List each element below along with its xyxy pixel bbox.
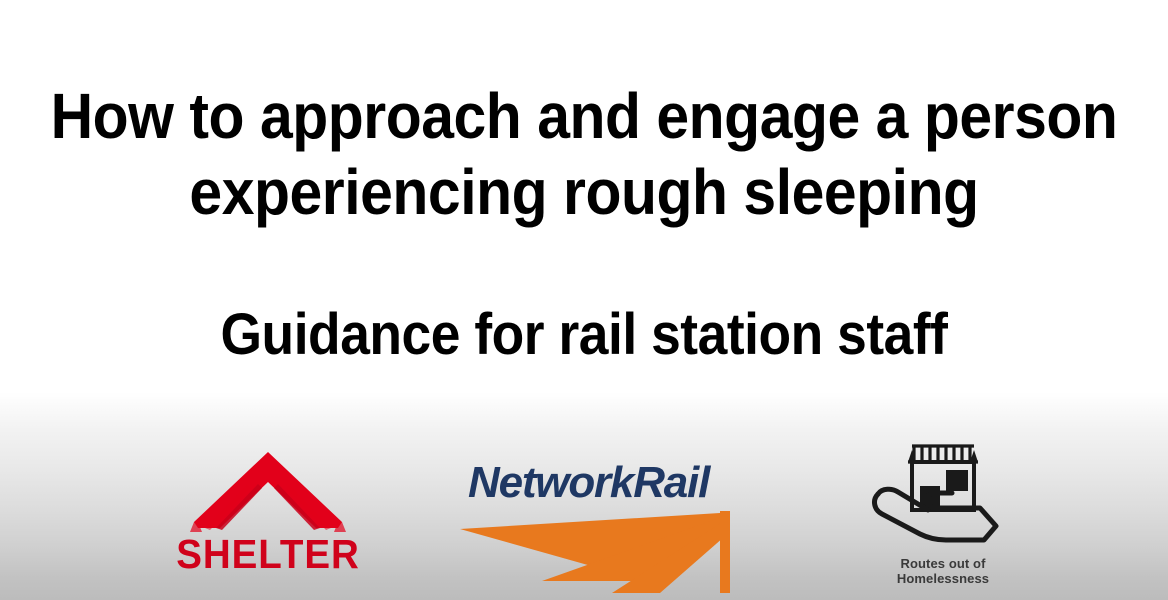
network-rail-wordmark: NetworkRail bbox=[452, 460, 742, 506]
title-slide: How to approach and engage a person expe… bbox=[0, 0, 1168, 600]
subtitle-line-1: Guidance for rail station staff bbox=[47, 300, 1122, 370]
chevron-roof-icon bbox=[188, 448, 348, 534]
partner-logo-row: SHELTER NetworkRail bbox=[0, 430, 1168, 600]
logo-network-rail: NetworkRail bbox=[452, 460, 742, 595]
title-line-1: How to approach and engage a person bbox=[47, 78, 1122, 154]
hand-holding-house-icon bbox=[868, 438, 1018, 556]
routes-wordmark-line-2: Homelessness bbox=[848, 571, 1038, 586]
converging-tracks-icon bbox=[452, 507, 742, 595]
title-line-2: experiencing rough sleeping bbox=[47, 154, 1122, 230]
shelter-wordmark: SHELTER bbox=[174, 532, 362, 576]
page-title: How to approach and engage a person expe… bbox=[0, 78, 1168, 230]
logo-shelter: SHELTER bbox=[168, 448, 368, 576]
routes-wordmark-line-1: Routes out of bbox=[848, 556, 1038, 571]
logo-routes-out-of-homelessness: Routes out of Homelessness bbox=[848, 438, 1038, 586]
page-subtitle: Guidance for rail station staff bbox=[0, 300, 1168, 370]
